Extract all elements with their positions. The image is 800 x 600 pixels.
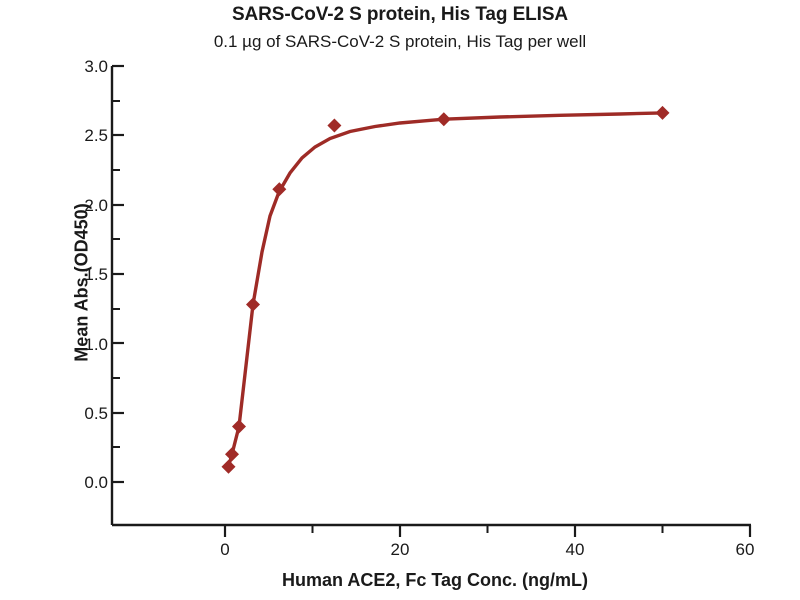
chart-figure: SARS-CoV-2 S protein, His Tag ELISA 0.1 … [0, 0, 800, 600]
y-major-ticks [112, 66, 124, 482]
data-point [437, 112, 451, 126]
data-point [656, 106, 670, 120]
plot-area [0, 0, 800, 600]
data-point [222, 460, 236, 474]
data-point [327, 119, 341, 133]
data-point [225, 447, 239, 461]
data-curve [229, 113, 663, 467]
data-point [232, 420, 246, 434]
data-markers [222, 106, 670, 474]
data-point [246, 298, 260, 312]
